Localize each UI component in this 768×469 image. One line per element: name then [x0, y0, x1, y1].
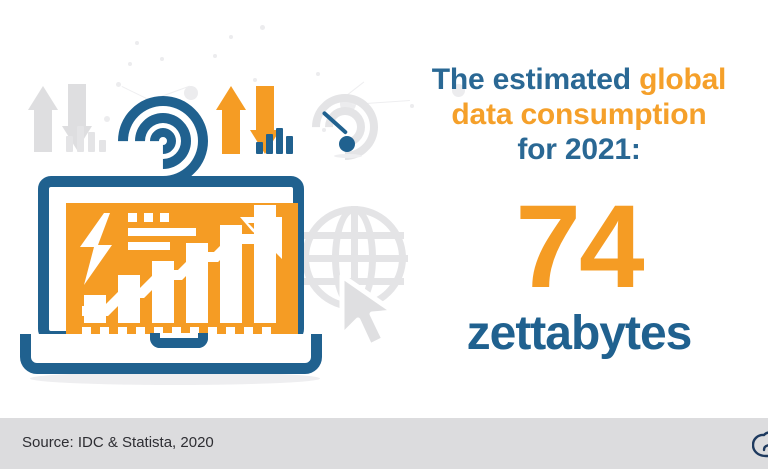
decor-dot — [316, 72, 320, 76]
cloud-logo-icon — [752, 431, 768, 459]
orange-traffic-arrows-icon — [214, 86, 296, 168]
blue-mini-bar — [266, 134, 273, 154]
stat-unit: zettabytes — [398, 308, 760, 360]
decor-dot — [253, 78, 257, 82]
headline-line1-blue: The estimated — [432, 63, 639, 96]
gray-traffic-arrows-icon — [26, 84, 108, 166]
screen-bar — [84, 295, 106, 323]
screen-bar — [254, 205, 276, 323]
laptop-screen — [66, 203, 298, 337]
decor-dot — [260, 25, 265, 30]
screen-bar — [186, 243, 208, 323]
laptop-illustration — [38, 176, 338, 391]
decor-dot — [128, 62, 132, 66]
decor-dot — [160, 57, 164, 61]
headline-line1-orange: global — [639, 63, 726, 96]
gray-mini-bar — [66, 136, 73, 152]
screen-bar — [118, 275, 140, 323]
laptop-lid — [38, 176, 304, 342]
headline-line2: data consumption — [451, 98, 706, 131]
gauge-shadow — [334, 154, 362, 158]
laptop-trackpad-notch — [150, 333, 208, 348]
decor-dot — [213, 54, 217, 58]
gray-arrow-up-head — [28, 86, 58, 110]
stat-value: 74 — [398, 188, 760, 306]
decor-dot — [135, 41, 139, 45]
decor-dot — [116, 82, 121, 87]
gray-mini-bar — [99, 140, 106, 152]
gray-mini-bar — [77, 126, 84, 152]
screen-bar — [220, 225, 242, 323]
gray-arrow-up-shaft — [34, 108, 52, 152]
wifi-speed-gauge-icon — [312, 94, 382, 156]
blue-mini-bar — [256, 142, 263, 154]
decor-dot — [229, 35, 233, 39]
source-citation: Source: IDC & Statista, 2020 — [22, 434, 214, 451]
gray-arrow-down-shaft — [68, 84, 86, 128]
gray-mini-bar — [88, 132, 95, 152]
blue-mini-bar — [276, 128, 283, 154]
orange-arrow-up-shaft — [222, 108, 240, 154]
footer-bar: Source: IDC & Statista, 2020 FinancesOnl… — [0, 418, 768, 469]
orange-arrow-down-shaft — [256, 86, 274, 132]
wifi-signal-icon — [118, 88, 208, 168]
screen-bar — [152, 261, 174, 323]
headline: The estimated global data consumption fo… — [398, 62, 760, 167]
gauge-hub — [339, 136, 355, 152]
blue-mini-bar — [286, 136, 293, 154]
orange-arrow-up-head — [216, 86, 246, 110]
headline-line3: for 2021: — [517, 133, 640, 166]
infographic-canvas: The estimated global data consumption fo… — [0, 0, 768, 469]
